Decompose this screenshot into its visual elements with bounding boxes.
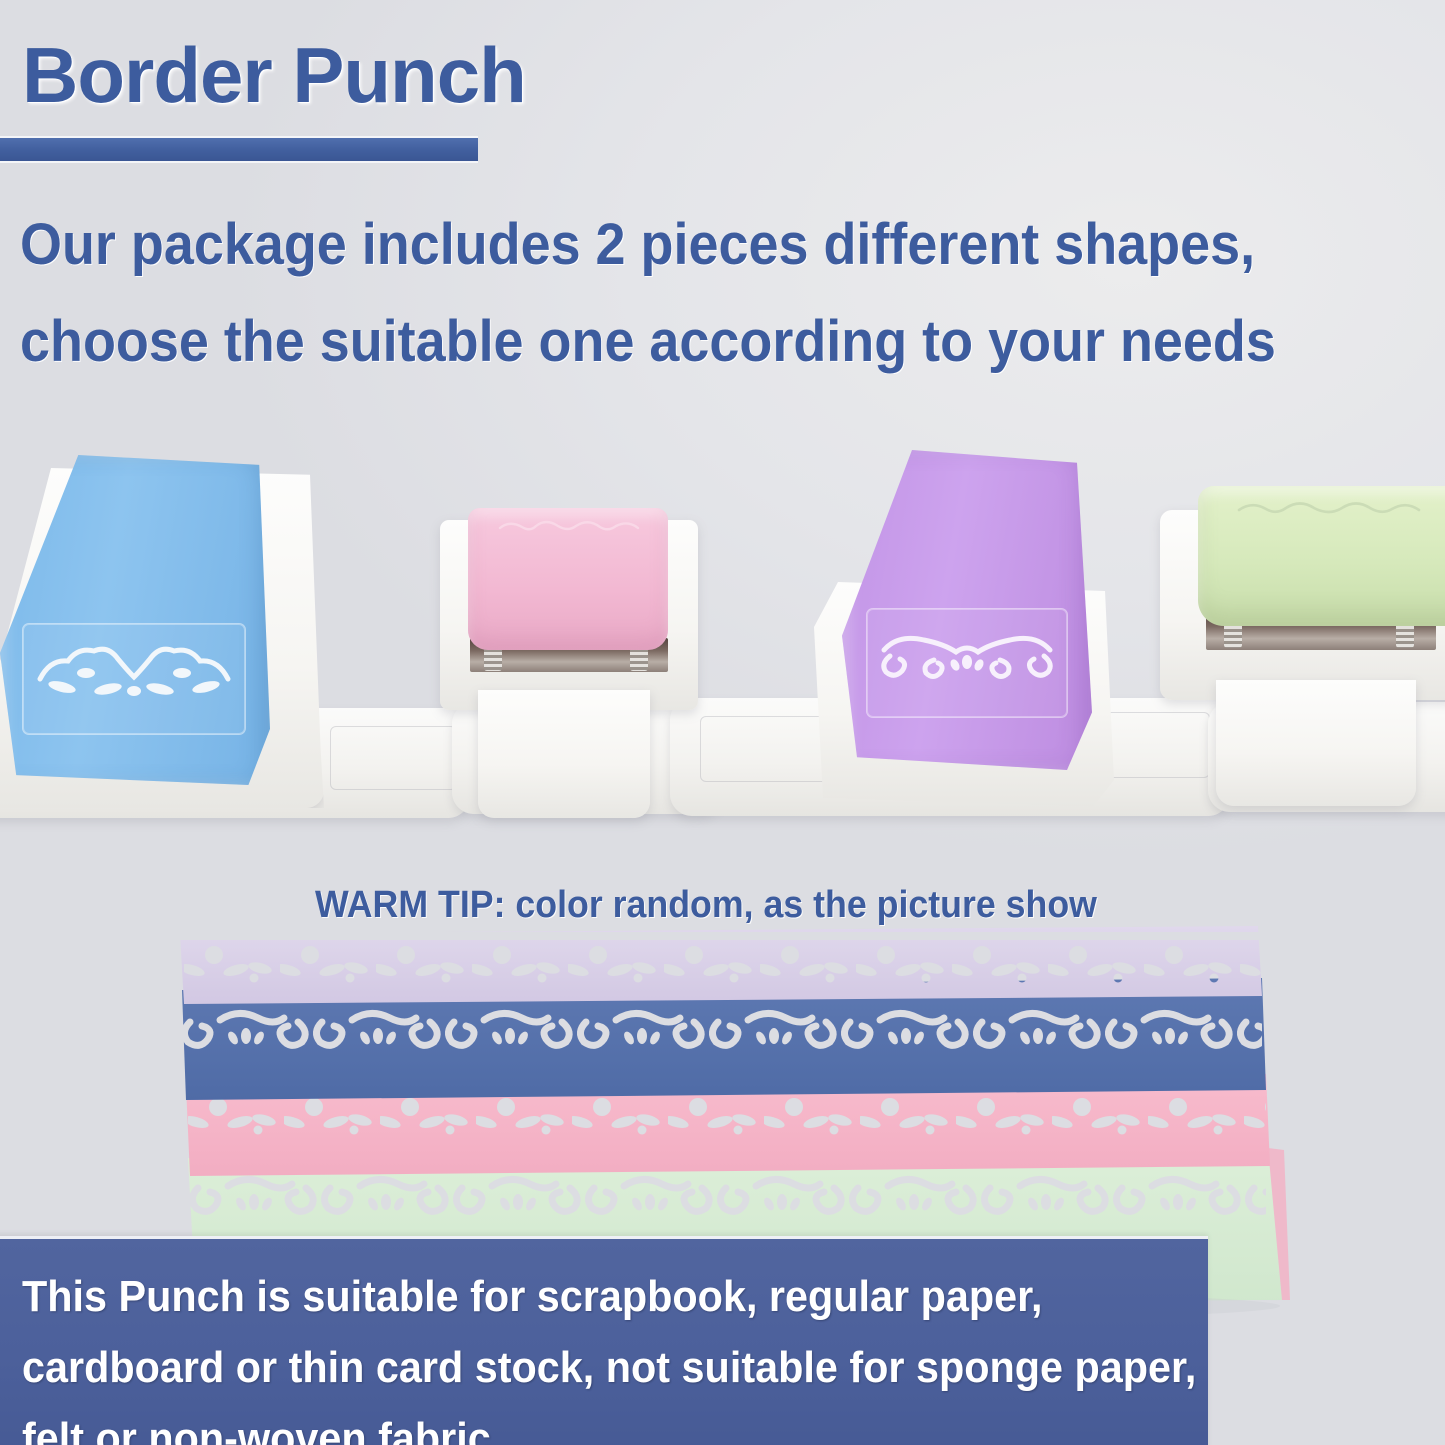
- paper-layer-lavender: [180, 926, 1262, 1004]
- banner-line-3: felt or non-woven fabric.: [22, 1403, 1112, 1445]
- paper-samples: [0, 0, 1445, 1445]
- banner-line-2: cardboard or thin card stock, not suitab…: [22, 1332, 1112, 1403]
- bottom-banner-text: This Punch is suitable for scrapbook, re…: [22, 1261, 1112, 1445]
- product-infographic: Border Punch Our package includes 2 piec…: [0, 0, 1445, 1445]
- banner-line-1: This Punch is suitable for scrapbook, re…: [22, 1261, 1112, 1332]
- bottom-banner: This Punch is suitable for scrapbook, re…: [0, 1236, 1208, 1445]
